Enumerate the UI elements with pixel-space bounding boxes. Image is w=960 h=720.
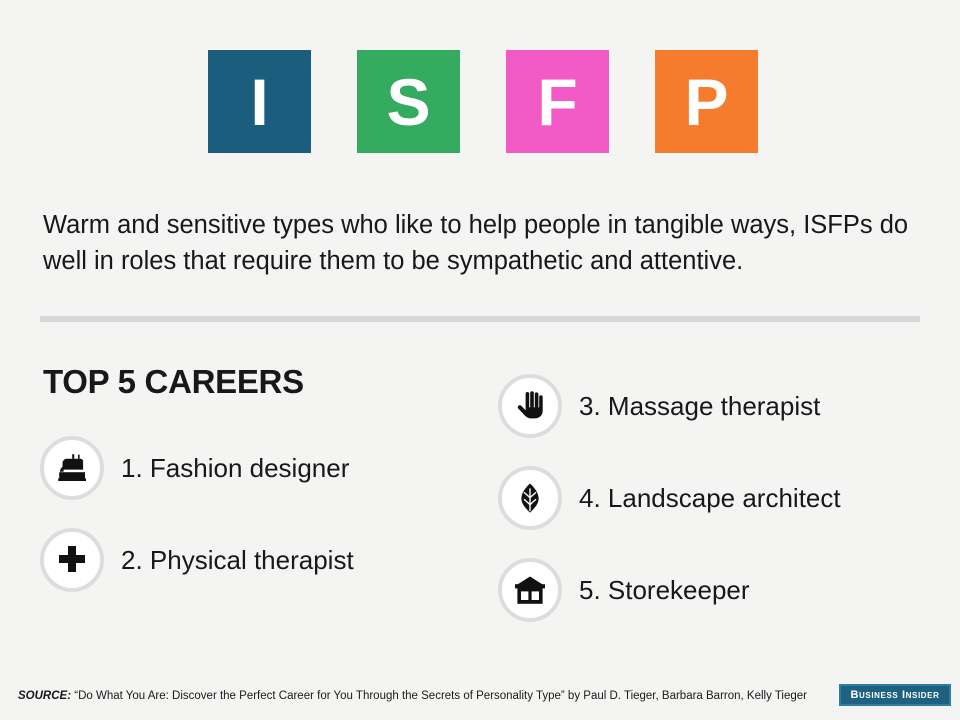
section-divider (40, 316, 920, 322)
list-item: 5. Storekeeper (498, 544, 948, 636)
footer: SOURCE: “Do What You Are: Discover the P… (0, 678, 960, 720)
source-citation: SOURCE: “Do What You Are: Discover the P… (18, 690, 807, 702)
careers-column-right: 3. Massage therapist 4. Landscape archit… (498, 360, 948, 636)
list-item-label: 5. Storekeeper (579, 575, 750, 606)
business-insider-logo: Business Insider (839, 684, 951, 706)
type-letter-1: I (250, 69, 268, 135)
type-letter-tile-3: F (506, 50, 609, 153)
business-insider-logo-text: Business Insider (850, 689, 939, 701)
storefront-icon (498, 558, 562, 622)
hand-icon (498, 374, 562, 438)
type-letter-tile-2: S (357, 50, 460, 153)
list-item: 1. Fashion designer (40, 422, 490, 514)
source-text: “Do What You Are: Discover the Perfect C… (74, 690, 807, 702)
page-title: TOP 5 CAREERS (40, 360, 490, 422)
sewing-machine-icon (40, 436, 104, 500)
list-item: 4. Landscape architect (498, 452, 948, 544)
type-letter-tile-1: I (208, 50, 311, 153)
list-item-label: 2. Physical therapist (121, 545, 354, 576)
list-item-label: 1. Fashion designer (121, 453, 349, 484)
source-label: SOURCE: (18, 690, 71, 702)
type-letter-tile-4: P (655, 50, 758, 153)
medical-cross-icon (40, 528, 104, 592)
careers-column-left: TOP 5 CAREERS 1. Fashion designer (40, 360, 490, 606)
type-letter-2: S (386, 69, 430, 135)
list-item-label: 3. Massage therapist (579, 391, 820, 422)
list-item: 2. Physical therapist (40, 514, 490, 606)
leaf-icon (498, 466, 562, 530)
type-code-tiles: I S F P (208, 50, 758, 153)
list-item: 3. Massage therapist (498, 360, 948, 452)
careers-section: TOP 5 CAREERS 1. Fashion designer (0, 360, 960, 650)
type-description: Warm and sensitive types who like to hel… (43, 207, 923, 279)
list-item-label: 4. Landscape architect (579, 483, 841, 514)
type-letter-4: P (684, 69, 728, 135)
type-letter-3: F (537, 69, 577, 135)
